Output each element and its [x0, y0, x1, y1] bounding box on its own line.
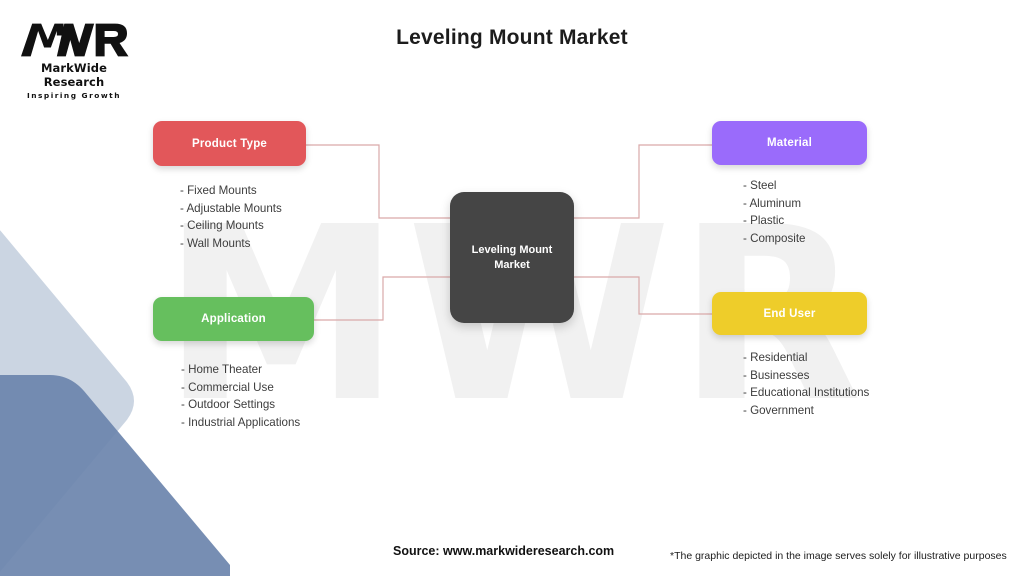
- branch-product-type: Product Type - Fixed Mounts - Adjustable…: [153, 121, 306, 252]
- list-item: - Adjustable Mounts: [180, 200, 306, 218]
- list-item: - Home Theater: [181, 361, 314, 379]
- list-item: - Fixed Mounts: [180, 182, 306, 200]
- source-label: Source: www.markwideresearch.com: [393, 544, 614, 558]
- list-item: - Outdoor Settings: [181, 396, 314, 414]
- diagram-canvas: MWR MarkWide Research Inspiring Growth L…: [0, 0, 1024, 576]
- connector-product-type: [306, 145, 452, 218]
- list-item: - Composite: [743, 230, 867, 248]
- list-item: - Residential: [743, 349, 869, 367]
- list-item: - Ceiling Mounts: [180, 217, 306, 235]
- branch-items-material: - Steel - Aluminum - Plastic - Composite: [712, 177, 867, 247]
- list-item: - Plastic: [743, 212, 867, 230]
- list-item: - Educational Institutions: [743, 384, 869, 402]
- branch-application: Application - Home Theater - Commercial …: [153, 297, 314, 431]
- list-item: - Government: [743, 402, 869, 420]
- branch-header-application[interactable]: Application: [153, 297, 314, 341]
- branch-header-material[interactable]: Material: [712, 121, 867, 165]
- branch-header-end-user[interactable]: End User: [712, 292, 867, 335]
- list-item: - Businesses: [743, 367, 869, 385]
- connector-end-user: [572, 277, 712, 314]
- branch-items-application: - Home Theater - Commercial Use - Outdoo…: [153, 361, 314, 431]
- list-item: - Aluminum: [743, 195, 867, 213]
- list-item: - Industrial Applications: [181, 414, 314, 432]
- branch-items-end-user: - Residential - Businesses - Educational…: [712, 349, 869, 419]
- branch-header-product-type[interactable]: Product Type: [153, 121, 306, 166]
- connector-material: [572, 145, 712, 218]
- list-item: - Steel: [743, 177, 867, 195]
- center-node-label: Leveling Mount Market: [466, 243, 558, 273]
- disclaimer-label: *The graphic depicted in the image serve…: [670, 550, 1007, 562]
- list-item: - Commercial Use: [181, 379, 314, 397]
- connector-application: [314, 277, 452, 320]
- center-node[interactable]: Leveling Mount Market: [450, 192, 574, 323]
- branch-material: Material - Steel - Aluminum - Plastic - …: [712, 121, 867, 247]
- branch-items-product-type: - Fixed Mounts - Adjustable Mounts - Cei…: [153, 182, 306, 252]
- branch-end-user: End User - Residential - Businesses - Ed…: [712, 292, 869, 419]
- list-item: - Wall Mounts: [180, 235, 306, 253]
